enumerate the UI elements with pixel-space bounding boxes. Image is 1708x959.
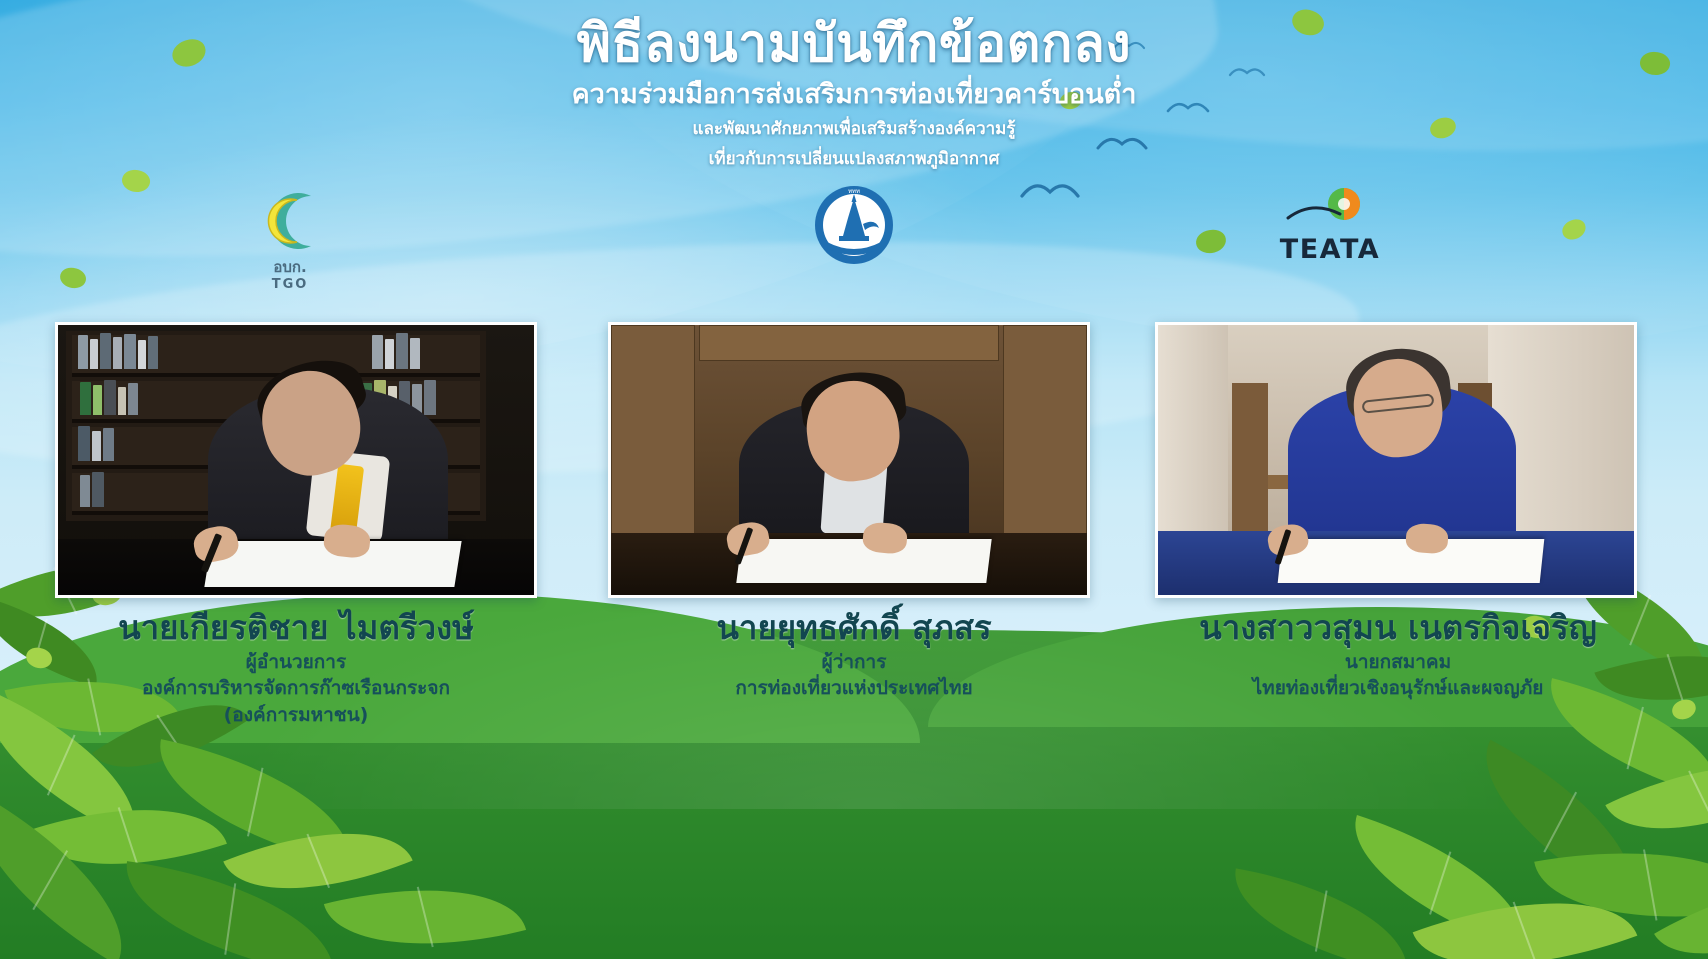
tat-logo-mark: ททท [813, 184, 895, 266]
video-grid [0, 322, 1708, 602]
logo-row: อบก. TGO ททท TEATA [0, 184, 1708, 294]
video-tile-center[interactable] [608, 322, 1090, 598]
participant-caption-right: นางสาววสุมน เนตรกิจเจริญ นายกสมาคม ไทยท่… [1118, 608, 1678, 702]
tgo-logo-mark [251, 184, 329, 258]
teata-logo-caption: TEATA [1280, 234, 1380, 265]
teata-logo: TEATA [1220, 184, 1440, 292]
participant-role: ผู้ว่าการ [574, 649, 1134, 675]
video-tile-right[interactable] [1155, 322, 1637, 598]
participant-org-line1: องค์การบริหารจัดการก๊าซเรือนกระจก [16, 675, 576, 701]
participant-org-line1: การท่องเที่ยวแห่งประเทศไทย [574, 675, 1134, 701]
participant-org-line2: (องค์การมหาชน) [16, 702, 576, 728]
tgo-logo-caption-line2: TGO [272, 278, 309, 292]
caption-row: นายเกียรติชาย ไมตรีวงษ์ ผู้อำนวยการ องค์… [0, 608, 1708, 728]
participant-name: นางสาววสุมน เนตรกิจเจริญ [1118, 608, 1678, 648]
participant-role: ผู้อำนวยการ [16, 649, 576, 675]
title-block: พิธีลงนามบันทึกข้อตกลง ความร่วมมือการส่ง… [0, 14, 1708, 172]
video-scene-right [1158, 325, 1634, 595]
video-tile-left[interactable] [55, 322, 537, 598]
tat-logo: ททท [744, 184, 964, 292]
page-subtitle-secondary-line1: และพัฒนาศักยภาพเพื่อเสริมสร้างองค์ความรู… [0, 117, 1708, 142]
page-subtitle-primary: ความร่วมมือการส่งเสริมการท่องเที่ยวคาร์บ… [0, 77, 1708, 112]
participant-name: นายยุทธศักดิ์ สุภสร [574, 608, 1134, 648]
tgo-logo: อบก. TGO [180, 184, 400, 292]
svg-text:ททท: ททท [848, 188, 860, 195]
tgo-logo-caption-line1: อบก. [273, 260, 306, 276]
broadcast-stage: พิธีลงนามบันทึกข้อตกลง ความร่วมมือการส่ง… [0, 0, 1708, 959]
page-subtitle-secondary-line2: เที่ยวกับการเปลี่ยนแปลงสภาพภูมิอากาศ [0, 147, 1708, 172]
video-scene-left [58, 325, 534, 595]
participant-caption-center: นายยุทธศักดิ์ สุภสร ผู้ว่าการ การท่องเที… [574, 608, 1134, 702]
participant-role: นายกสมาคม [1118, 649, 1678, 675]
participant-name: นายเกียรติชาย ไมตรีวงษ์ [16, 608, 576, 648]
video-scene-center [611, 325, 1087, 595]
page-title: พิธีลงนามบันทึกข้อตกลง [0, 14, 1708, 75]
participant-org-line1: ไทยท่องเที่ยวเชิงอนุรักษ์และผจญภัย [1118, 675, 1678, 701]
participant-caption-left: นายเกียรติชาย ไมตรีวงษ์ ผู้อำนวยการ องค์… [16, 608, 576, 728]
teata-logo-mark [1282, 184, 1378, 238]
